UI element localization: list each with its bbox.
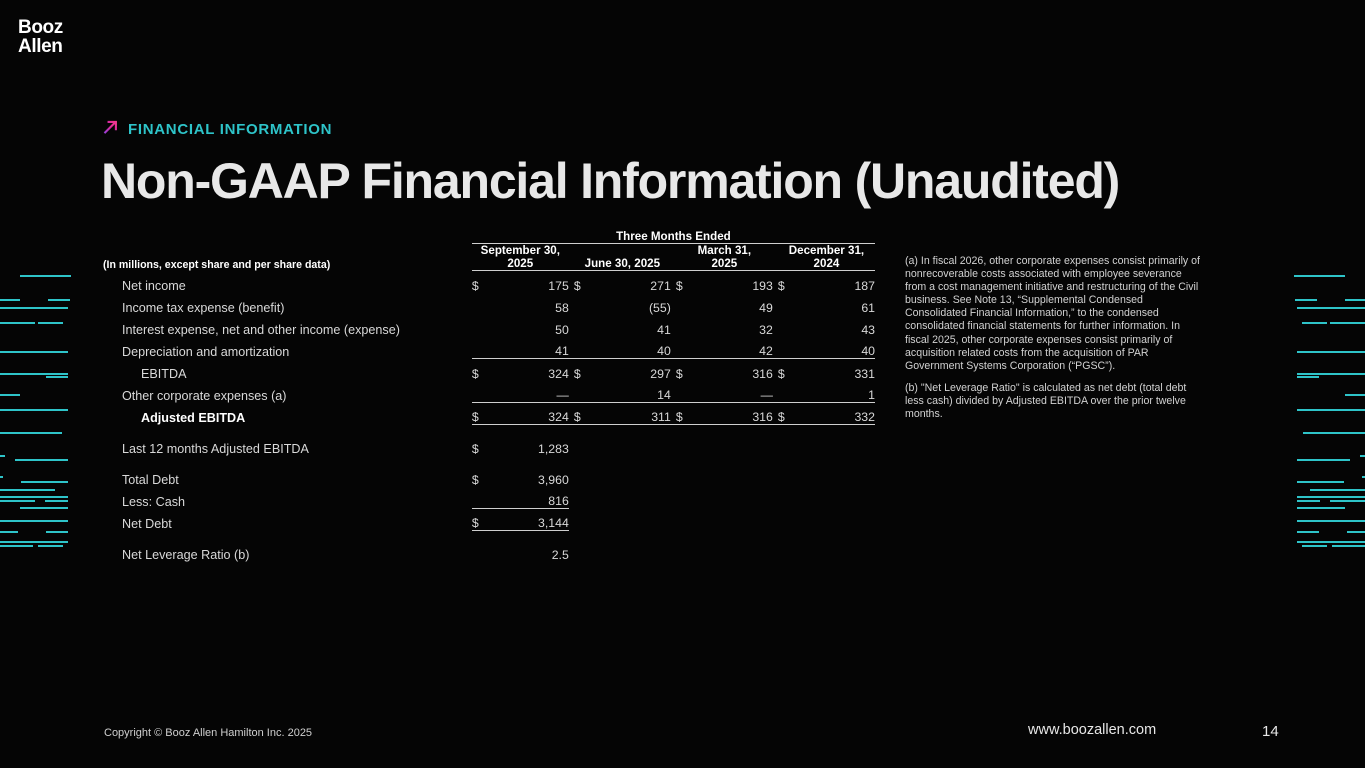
cell-value: 41 [588,315,671,337]
decorative-line [0,409,68,411]
table-row: Total Debt $ 3,960 [103,465,875,487]
decorative-line [1297,376,1319,378]
table-row: Net Leverage Ratio (b) 2.5 [103,540,875,562]
cell-currency [778,337,792,359]
decorative-line [0,520,68,522]
decorative-line [1360,455,1365,457]
table-spacer [103,531,875,540]
cell-value: 324 [486,359,569,381]
cell-currency [574,315,588,337]
cell-value: 331 [792,359,875,381]
table-column-header-row: (In millions, except share and per share… [103,244,875,271]
cell-currency [472,540,486,562]
decorative-lines-right [1280,0,1365,768]
page-title: Non-GAAP Financial Information (Unaudite… [101,152,1119,210]
cell-currency: $ [574,271,588,293]
decorative-line [20,275,68,277]
cell-value: 61 [792,293,875,315]
cell-currency [676,337,690,359]
cell-currency [574,293,588,315]
decorative-line [1302,545,1327,547]
decorative-line [46,376,68,378]
footnote-b: (b) "Net Leverage Ratio" is calculated a… [905,382,1205,421]
cell-value: 316 [690,359,773,381]
decorative-line [0,432,62,434]
decorative-line [1297,409,1365,411]
slide-canvas: Booz Allen FINANCIAL INFORMATION Non-GAA… [0,0,1365,768]
decorative-line [0,299,20,301]
decorative-line [1297,459,1350,461]
decorative-line [1297,373,1365,375]
decorative-line [0,496,68,498]
footnotes-block: (a) In fiscal 2026, other corporate expe… [905,255,1205,421]
table-row: Adjusted EBITDA $ 324 $ 311 $ 316 $ 332 [103,403,875,425]
cell-value: 14 [588,381,671,403]
cell-value: 42 [690,337,773,359]
booz-allen-logo: Booz Allen [18,18,63,56]
decorative-line [0,545,33,547]
row-label: Income tax expense (benefit) [103,293,472,315]
row-label: Net income [103,271,472,293]
decorative-line [1332,545,1365,547]
cell-value: 311 [588,403,671,425]
decorative-line [0,541,68,543]
decorative-line [0,394,20,396]
cell-value: 332 [792,403,875,425]
cell-currency [472,315,486,337]
cell-value: 193 [690,271,773,293]
cell-value: 58 [486,293,569,315]
table-row: Less: Cash 816 [103,487,875,509]
cell-currency: $ [472,434,486,456]
cell-currency: $ [676,359,690,381]
cell-value: 32 [690,315,773,337]
cell-currency: $ [472,509,486,531]
decorative-line [1330,500,1365,502]
group-header-label: Three Months Ended [472,230,875,243]
cell-value: — [486,381,569,403]
column-header-q4: December 31, 2024 [778,244,875,271]
page-number: 14 [1262,723,1279,740]
table-spacer [103,456,875,465]
cell-currency [676,315,690,337]
decorative-line [1297,541,1365,543]
row-label: Total Debt [103,465,472,487]
decorative-line [1345,394,1365,396]
cell-value: 50 [486,315,569,337]
decorative-line [38,322,63,324]
arrow-up-right-icon [103,119,119,140]
decorative-line [0,322,35,324]
table-row: Interest expense, net and other income (… [103,315,875,337]
decorative-line [1297,531,1319,533]
eyebrow-label: FINANCIAL INFORMATION [128,121,332,138]
table-row: Depreciation and amortization 41 40 42 4… [103,337,875,359]
cell-value: 271 [588,271,671,293]
column-header-q1: September 30, 2025 [472,244,569,271]
column-header-q2: June 30, 2025 [574,244,671,271]
table-group-header-row: Three Months Ended [103,230,875,243]
decorative-line [45,500,68,502]
row-label: Adjusted EBITDA [103,403,472,425]
decorative-line [0,500,35,502]
decorative-line [1297,520,1365,522]
decorative-line [1345,299,1365,301]
cell-currency: $ [472,465,486,487]
decorative-line [1310,489,1365,491]
decorative-line [0,455,5,457]
logo-line-1: Booz [18,18,63,37]
decorative-line [1295,299,1317,301]
decorative-line [1303,432,1365,434]
decorative-line [1297,500,1320,502]
decorative-line [21,481,68,483]
cell-value: 316 [690,403,773,425]
row-label: Last 12 months Adjusted EBITDA [103,434,472,456]
table-row: EBITDA $ 324 $ 297 $ 316 $ 331 [103,359,875,381]
decorative-line [20,507,68,509]
cell-currency: $ [778,271,792,293]
decorative-line [1297,307,1365,309]
cell-currency [676,293,690,315]
cell-currency: $ [472,403,486,425]
table-row: Income tax expense (benefit) 58 (55) 49 … [103,293,875,315]
footnote-a: (a) In fiscal 2026, other corporate expe… [905,255,1205,373]
decorative-line [1302,322,1327,324]
cell-value: 41 [486,337,569,359]
units-note: (In millions, except share and per share… [103,244,472,271]
decorative-line [1347,531,1365,533]
decorative-line [0,489,55,491]
table-spacer [103,425,875,434]
cell-value: 816 [486,487,569,509]
decorative-line [15,459,68,461]
table-row: Other corporate expenses (a) — 14 — 1 [103,381,875,403]
non-gaap-table: Three Months Ended (In millions, except … [103,230,875,562]
cell-currency: $ [574,403,588,425]
decorative-line [1294,275,1302,277]
cell-value: 3,960 [486,465,569,487]
cell-value: 40 [588,337,671,359]
website-url: www.boozallen.com [1028,722,1156,738]
cell-currency [472,487,486,509]
table-row: Last 12 months Adjusted EBITDA $ 1,283 [103,434,875,456]
decorative-line [1297,481,1344,483]
cell-currency: $ [676,403,690,425]
decorative-line [0,531,18,533]
cell-currency [574,381,588,403]
decorative-line [38,545,63,547]
row-label: Net Leverage Ratio (b) [103,540,472,562]
decorative-line [0,373,68,375]
cell-currency [676,381,690,403]
decorative-line [1297,507,1345,509]
section-eyebrow: FINANCIAL INFORMATION [103,119,332,140]
decorative-line [1297,496,1365,498]
cell-currency [778,293,792,315]
decorative-line [1297,351,1365,353]
cell-currency: $ [574,359,588,381]
row-label: EBITDA [103,359,472,381]
cell-value: 324 [486,403,569,425]
cell-value: 49 [690,293,773,315]
cell-currency: $ [778,359,792,381]
decorative-line [0,351,68,353]
decorative-line [0,307,68,309]
decorative-line [46,531,68,533]
cell-value: 40 [792,337,875,359]
cell-value: 187 [792,271,875,293]
cell-currency [574,337,588,359]
row-label: Less: Cash [103,487,472,509]
copyright-text: Copyright © Booz Allen Hamilton Inc. 202… [104,727,312,739]
cell-currency [472,381,486,403]
logo-line-2: Allen [18,37,63,56]
cell-value: 175 [486,271,569,293]
cell-value: 43 [792,315,875,337]
column-header-q3: March 31, 2025 [676,244,773,271]
cell-value: (55) [588,293,671,315]
cell-currency: $ [472,271,486,293]
cell-value: 1,283 [486,434,569,456]
decorative-lines-left [0,0,85,768]
cell-currency [778,381,792,403]
cell-value: 2.5 [486,540,569,562]
cell-value: 3,144 [486,509,569,531]
cell-value: 297 [588,359,671,381]
decorative-line [0,476,3,478]
decorative-line [1330,322,1365,324]
cell-currency: $ [778,403,792,425]
row-label: Other corporate expenses (a) [103,381,472,403]
decorative-line [1297,275,1345,277]
cell-value: 1 [792,381,875,403]
decorative-line [63,275,71,277]
decorative-line [48,299,70,301]
cell-currency: $ [472,359,486,381]
cell-value: — [690,381,773,403]
cell-currency [472,337,486,359]
row-label: Interest expense, net and other income (… [103,315,472,337]
table-row: Net income $ 175 $ 271 $ 193 $ 187 [103,271,875,293]
table-row: Net Debt $ 3,144 [103,509,875,531]
row-label: Net Debt [103,509,472,531]
row-label: Depreciation and amortization [103,337,472,359]
cell-currency: $ [676,271,690,293]
cell-currency [778,315,792,337]
cell-currency [472,293,486,315]
